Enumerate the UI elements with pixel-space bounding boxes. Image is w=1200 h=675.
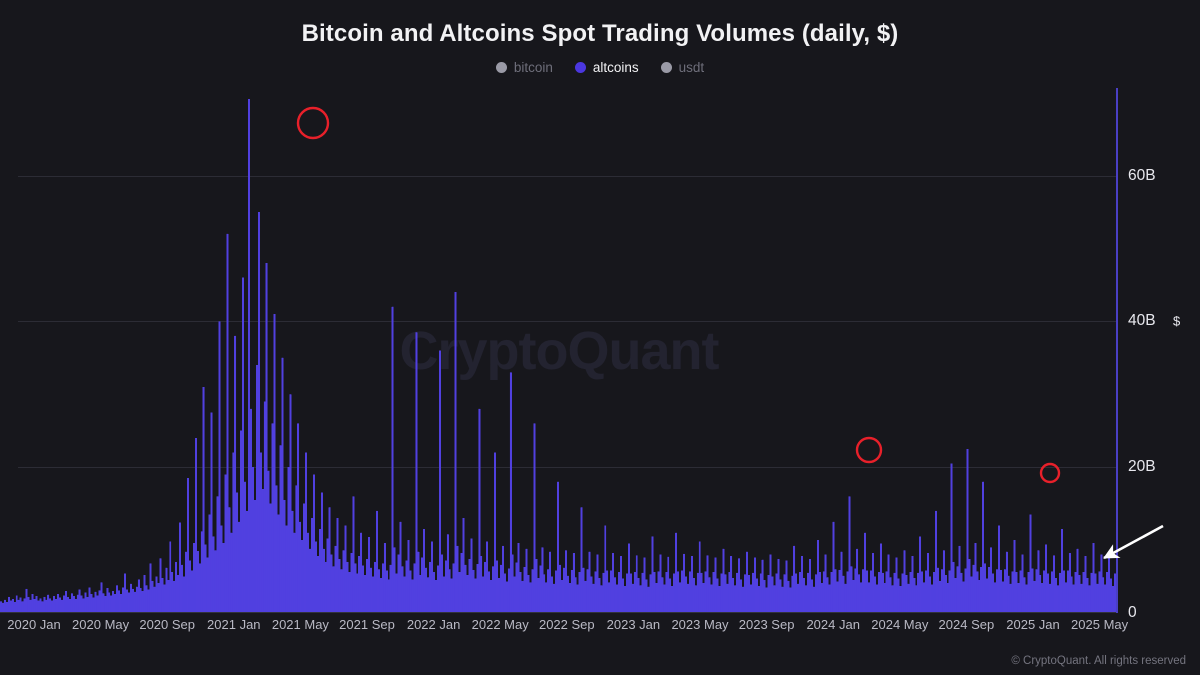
x-tick-label-2024-may: 2024 May	[871, 617, 928, 632]
legend-label-usdt: usdt	[679, 60, 705, 75]
legend-dot-bitcoin	[496, 62, 507, 73]
legend-item-altcoins[interactable]: altcoins	[575, 60, 639, 75]
legend-dot-altcoins	[575, 62, 586, 73]
x-tick-label-2020-jan: 2020 Jan	[7, 617, 61, 632]
copyright-credit: © CryptoQuant. All rights reserved	[1011, 655, 1186, 667]
x-tick-label-2021-may: 2021 May	[272, 617, 329, 632]
y-tick-label-60B: 60B	[1128, 167, 1156, 185]
y-axis: 020B40B60B$	[1118, 88, 1200, 613]
x-tick-label-2024-jan: 2024 Jan	[806, 617, 860, 632]
x-tick-label-2021-jan: 2021 Jan	[207, 617, 261, 632]
legend-label-altcoins: altcoins	[593, 60, 639, 75]
x-tick-label-2025-jan: 2025 Jan	[1006, 617, 1060, 632]
plot-area[interactable]: CryptoQuant	[0, 88, 1118, 613]
chart-root: Bitcoin and Altcoins Spot Trading Volume…	[0, 0, 1200, 675]
x-tick-label-2024-sep: 2024 Sep	[939, 617, 995, 632]
y-tick-label-40B: 40B	[1128, 312, 1156, 330]
y-tick-label-20B: 20B	[1128, 458, 1156, 476]
x-axis: 2020 Jan2020 May2020 Sep2021 Jan2021 May…	[0, 617, 1130, 639]
x-tick-label-2022-sep: 2022 Sep	[539, 617, 595, 632]
legend-dot-usdt	[661, 62, 672, 73]
y-axis-currency-glyph: $	[1173, 314, 1180, 329]
series-altcoins	[0, 88, 1118, 613]
x-tick-label-2020-may: 2020 May	[72, 617, 129, 632]
x-tick-label-2023-jan: 2023 Jan	[607, 617, 661, 632]
legend-item-bitcoin[interactable]: bitcoin	[496, 60, 553, 75]
legend-item-usdt[interactable]: usdt	[661, 60, 705, 75]
x-tick-label-2020-sep: 2020 Sep	[139, 617, 195, 632]
x-tick-label-2021-sep: 2021 Sep	[339, 617, 395, 632]
x-axis-baseline	[0, 612, 1118, 613]
chart-legend: bitcoin altcoins usdt	[0, 60, 1200, 75]
chart-title: Bitcoin and Altcoins Spot Trading Volume…	[0, 20, 1200, 48]
x-tick-label-2025-may: 2025 May	[1071, 617, 1128, 632]
legend-label-bitcoin: bitcoin	[514, 60, 553, 75]
x-tick-label-2022-may: 2022 May	[472, 617, 529, 632]
x-tick-label-2022-jan: 2022 Jan	[407, 617, 461, 632]
x-tick-label-2023-may: 2023 May	[671, 617, 728, 632]
x-tick-label-2023-sep: 2023 Sep	[739, 617, 795, 632]
